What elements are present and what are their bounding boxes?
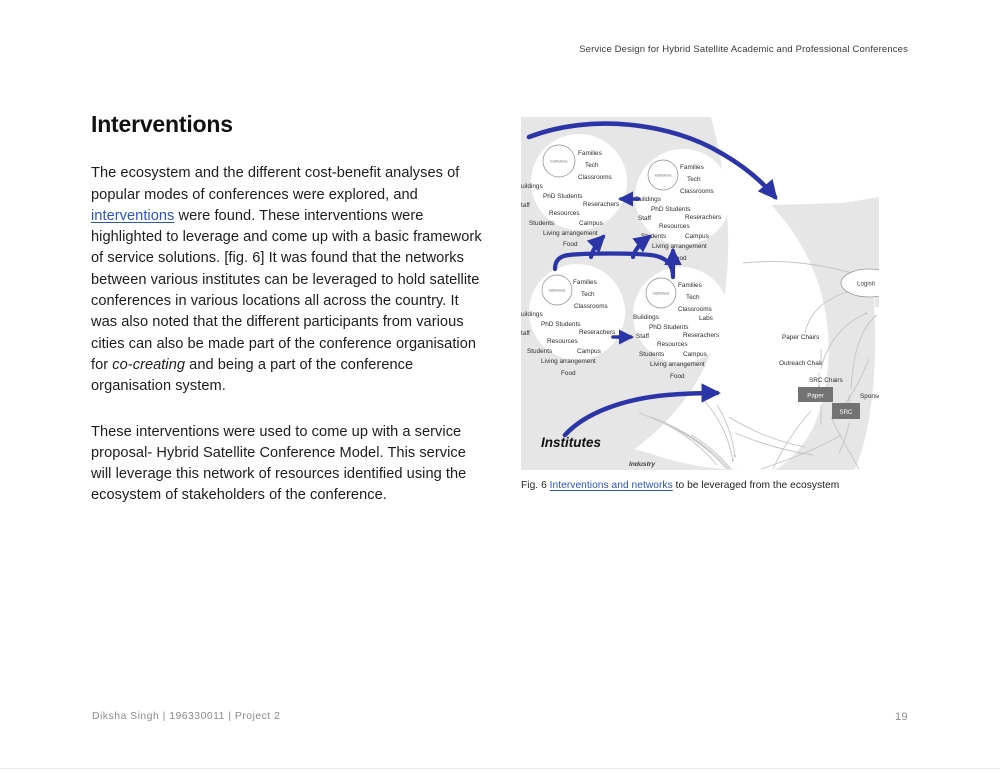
figure-caption-suffix: to be leveraged from the ecosystem bbox=[673, 480, 840, 491]
interventions-link[interactable]: interventions bbox=[91, 208, 174, 224]
svg-text:Students: Students bbox=[639, 351, 664, 358]
figure-6-canvas: Institutions Families Tech Classrooms ui… bbox=[521, 117, 879, 470]
svg-text:Staff: Staff bbox=[636, 333, 649, 340]
svg-text:Food: Food bbox=[670, 373, 685, 380]
svg-text:Campus: Campus bbox=[683, 351, 707, 358]
figure-caption-link[interactable]: Interventions and networks bbox=[550, 480, 673, 491]
document-page: Service Design for Hybrid Satellite Acad… bbox=[0, 0, 1000, 769]
svg-text:Logisti: Logisti bbox=[857, 281, 875, 288]
paragraph-two: These interventions were used to come up… bbox=[91, 422, 483, 507]
co-creating-emphasis: co-creating bbox=[112, 357, 185, 373]
svg-text:Classrooms: Classrooms bbox=[578, 174, 612, 181]
svg-text:Campus: Campus bbox=[685, 233, 709, 240]
svg-text:PhD Students: PhD Students bbox=[541, 321, 580, 328]
svg-text:Classrooms: Classrooms bbox=[680, 188, 714, 195]
svg-text:Labs: Labs bbox=[699, 315, 713, 322]
figure-6: Institutions Families Tech Classrooms ui… bbox=[521, 117, 879, 470]
page-number: 19 bbox=[0, 711, 908, 723]
paragraph-one-part-a: The ecosystem and the different cost-ben… bbox=[91, 165, 459, 202]
svg-text:PhD Students: PhD Students bbox=[651, 206, 690, 213]
paragraph-one-part-b: were found. These interventions were hig… bbox=[91, 208, 482, 373]
running-header: Service Design for Hybrid Satellite Acad… bbox=[0, 44, 908, 55]
svg-text:uildings: uildings bbox=[521, 311, 543, 318]
svg-text:Resources: Resources bbox=[547, 338, 578, 345]
svg-text:Industry: Industry bbox=[629, 461, 655, 468]
svg-text:Reserachers: Reserachers bbox=[579, 329, 615, 336]
page-title: Interventions bbox=[91, 112, 483, 137]
svg-text:uildings: uildings bbox=[521, 183, 543, 190]
svg-text:Students: Students bbox=[527, 348, 552, 355]
svg-text:Reserachers: Reserachers bbox=[685, 214, 721, 221]
svg-text:Families: Families bbox=[680, 164, 704, 171]
svg-text:Food: Food bbox=[561, 370, 576, 377]
svg-text:Resources: Resources bbox=[657, 341, 688, 348]
svg-text:Tech: Tech bbox=[585, 162, 599, 169]
svg-text:Paper Chairs: Paper Chairs bbox=[782, 334, 819, 341]
svg-text:Living arrangement: Living arrangement bbox=[652, 243, 707, 250]
left-text-column: Interventions The ecosystem and the diff… bbox=[91, 112, 483, 507]
svg-text:taff: taff bbox=[521, 202, 530, 209]
svg-text:Tech: Tech bbox=[687, 176, 701, 183]
svg-text:Institutions: Institutions bbox=[653, 292, 670, 296]
svg-text:Food: Food bbox=[563, 241, 578, 248]
svg-text:Institutions: Institutions bbox=[549, 289, 566, 293]
svg-text:Families: Families bbox=[678, 282, 702, 289]
svg-text:Campus: Campus bbox=[577, 348, 601, 355]
svg-text:Tech: Tech bbox=[686, 294, 700, 301]
svg-text:Reserachers: Reserachers bbox=[583, 201, 619, 208]
svg-text:PhD Students: PhD Students bbox=[649, 324, 688, 331]
svg-text:Families: Families bbox=[578, 150, 602, 157]
svg-text:Resources: Resources bbox=[659, 223, 690, 230]
figure-caption-prefix: Fig. 6 bbox=[521, 480, 550, 491]
svg-text:SRC Chairs: SRC Chairs bbox=[809, 377, 843, 384]
svg-text:Students: Students bbox=[529, 220, 554, 227]
svg-text:Paper: Paper bbox=[807, 393, 824, 400]
svg-text:Families: Families bbox=[573, 279, 597, 286]
svg-text:Classrooms: Classrooms bbox=[678, 306, 712, 313]
svg-text:Sponso: Sponso bbox=[860, 393, 879, 400]
svg-text:Living arrangement: Living arrangement bbox=[543, 230, 598, 237]
svg-text:Institutes: Institutes bbox=[541, 435, 601, 450]
svg-text:Institutions: Institutions bbox=[655, 174, 672, 178]
svg-text:Reserachers: Reserachers bbox=[683, 332, 719, 339]
svg-text:Resources: Resources bbox=[549, 210, 580, 217]
figure-caption: Fig. 6 Interventions and networks to be … bbox=[521, 480, 921, 491]
ecosystem-network-diagram: Institutions Families Tech Classrooms ui… bbox=[521, 117, 879, 470]
svg-text:Staff: Staff bbox=[638, 215, 651, 222]
svg-text:Classrooms: Classrooms bbox=[574, 303, 608, 310]
svg-text:PhD Students: PhD Students bbox=[543, 193, 582, 200]
svg-text:taff: taff bbox=[521, 330, 530, 337]
svg-text:Campus: Campus bbox=[579, 220, 603, 227]
paragraph-one: The ecosystem and the different cost-ben… bbox=[91, 163, 483, 397]
svg-text:Buildings: Buildings bbox=[633, 314, 659, 321]
svg-text:SRC: SRC bbox=[839, 409, 853, 416]
svg-text:Living arrangement: Living arrangement bbox=[650, 361, 705, 368]
svg-text:Outreach Chair: Outreach Chair bbox=[779, 360, 823, 367]
svg-text:Tech: Tech bbox=[581, 291, 595, 298]
svg-text:Living arrangement: Living arrangement bbox=[541, 358, 596, 365]
svg-text:Institutions: Institutions bbox=[550, 160, 567, 164]
